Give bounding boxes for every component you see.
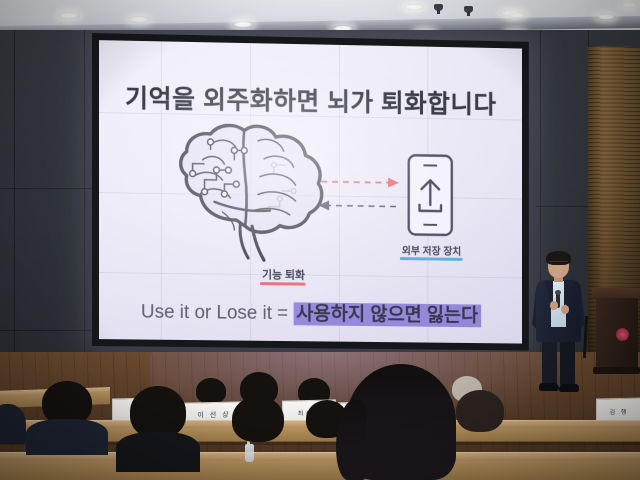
audience-head bbox=[456, 390, 504, 432]
audience-shoulders bbox=[26, 419, 108, 455]
presenter-shoe-right bbox=[559, 384, 579, 392]
audience-head bbox=[130, 386, 186, 438]
tagline-english: Use it or Lose it = bbox=[141, 302, 293, 325]
arrowhead-out bbox=[388, 178, 399, 188]
presenter bbox=[528, 253, 590, 395]
placard-text: 이 선 상 bbox=[197, 410, 230, 421]
smartphone-icon bbox=[409, 155, 452, 235]
wall-seam bbox=[14, 30, 15, 360]
downlight bbox=[232, 21, 254, 28]
audience-hair bbox=[232, 396, 284, 442]
glasses-icon bbox=[549, 261, 568, 266]
water-bottle bbox=[245, 444, 254, 462]
arrow-brain-to-device bbox=[321, 182, 388, 183]
audience-hair bbox=[130, 386, 186, 438]
podium-emblem-icon bbox=[616, 328, 629, 341]
wall-seam bbox=[0, 330, 92, 331]
audience-hair bbox=[196, 378, 226, 404]
audience-head bbox=[196, 378, 226, 404]
downlight bbox=[620, 2, 638, 8]
presenter-leg-right bbox=[560, 339, 575, 387]
podium-base bbox=[593, 367, 640, 374]
wall-seam bbox=[84, 30, 85, 360]
audience-shoulders bbox=[116, 432, 200, 472]
microphone-head-icon bbox=[555, 290, 561, 295]
presenter-hand-right bbox=[561, 305, 569, 314]
lecture-hall-scene: 기억을 외주화하면 뇌가 퇴화합니다 bbox=[0, 0, 640, 480]
audience-head bbox=[42, 381, 92, 425]
ceiling-sensor-icon bbox=[434, 4, 443, 11]
presenter-hand-left bbox=[550, 301, 558, 310]
downlight bbox=[404, 4, 424, 10]
tagline-korean-highlight: 사용하지 않으면 잃는다 bbox=[293, 302, 481, 327]
downlight bbox=[508, 12, 526, 18]
slide-tagline: Use it or Lose it = 사용하지 않으면 잃는다 bbox=[99, 296, 522, 328]
external-storage-label: 외부 저장 장치 bbox=[402, 242, 461, 258]
podium bbox=[592, 288, 640, 378]
presentation-screen-frame: 기억을 외주화하면 뇌가 퇴화합니다 bbox=[92, 33, 529, 351]
arrow-device-to-brain bbox=[329, 206, 396, 207]
presenter-shoe-left bbox=[539, 383, 559, 391]
presenter-leg-left bbox=[542, 339, 557, 387]
audience-desk-front bbox=[0, 461, 640, 480]
ceiling-sensor-icon bbox=[464, 6, 473, 13]
audience-head bbox=[232, 396, 284, 442]
brain-to-device-diagram bbox=[99, 118, 522, 288]
downlight bbox=[596, 14, 616, 20]
downlight bbox=[58, 12, 80, 19]
audience-hair bbox=[456, 390, 504, 432]
presentation-screen: 기억을 외주화하면 뇌가 퇴화합니다 bbox=[99, 40, 522, 343]
brain-label-underline bbox=[260, 282, 305, 286]
placard-text: 김 행 bbox=[610, 406, 629, 415]
slide-title: 기억을 외주화하면 뇌가 퇴화합니다 bbox=[99, 78, 522, 121]
downlight bbox=[128, 16, 150, 23]
diagram-svg bbox=[99, 118, 522, 288]
wall-seam bbox=[0, 188, 92, 189]
